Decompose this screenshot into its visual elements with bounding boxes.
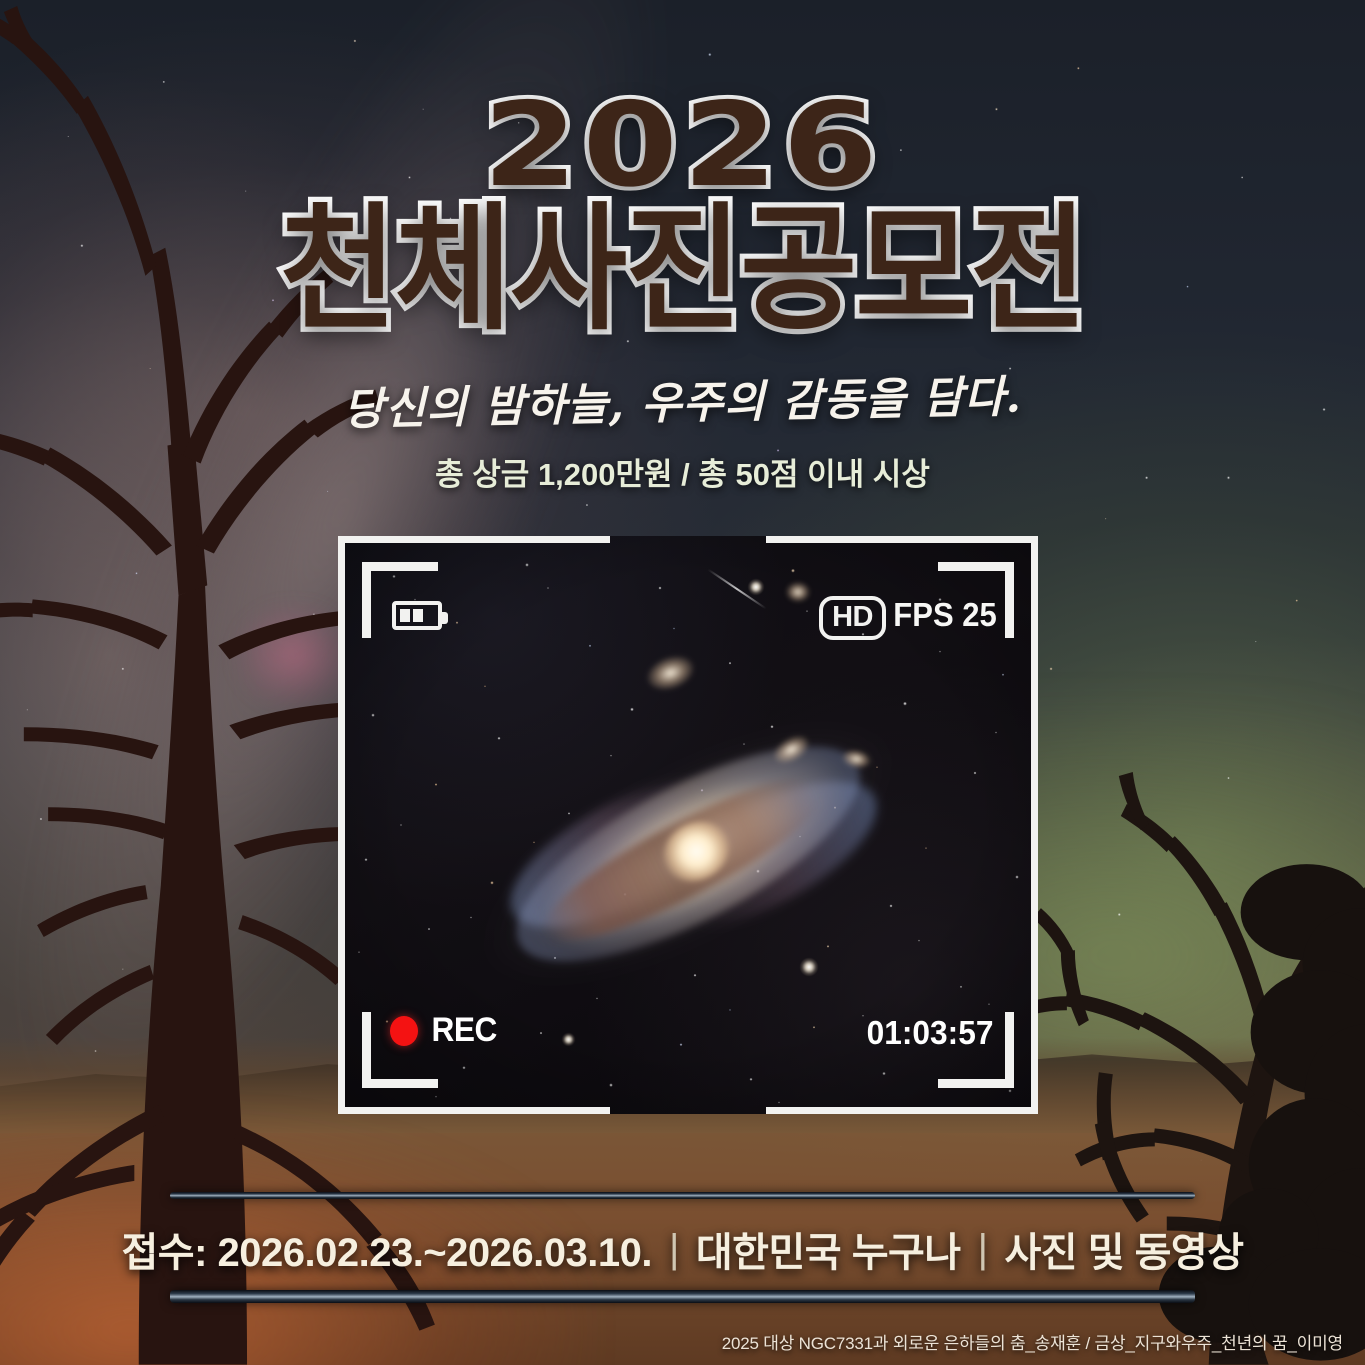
photo-credit-line: 2025 대상 NGC7331과 외로운 은하들의 춤_송재훈 / 금상_지구와… bbox=[722, 1329, 1343, 1354]
viewfinder-edge-bottom-left bbox=[338, 1107, 610, 1114]
info-band-top-rule bbox=[170, 1192, 1195, 1199]
hd-badge: HD bbox=[819, 596, 886, 640]
poster-canvas: 2026 천체사진공모전 당신의 밤하늘, 우주의 감동을 담다. 총 상금 1… bbox=[0, 0, 1365, 1365]
record-dot-icon bbox=[390, 1016, 418, 1046]
page-title-year: 2026 bbox=[0, 88, 1365, 204]
battery-cell-1 bbox=[400, 609, 410, 622]
battery-cell-2 bbox=[413, 609, 423, 622]
viewfinder-edge-bottom-right bbox=[766, 1107, 1038, 1114]
camera-viewfinder: HD FPS 25 REC 01:03:57 bbox=[338, 536, 1038, 1114]
info-separator-2: | bbox=[978, 1227, 988, 1272]
title-block: 2026 천체사진공모전 당신의 밤하늘, 우주의 감동을 담다. 총 상금 1… bbox=[0, 88, 1365, 494]
tagline-text: 당신의 밤하늘, 우주의 감동을 담다. bbox=[0, 354, 1365, 444]
info-separator-1: | bbox=[669, 1227, 679, 1272]
battery-icon bbox=[392, 601, 442, 630]
info-band: 접수: 2026.02.23.~2026.03.10. | 대한민국 누구나 |… bbox=[0, 1192, 1365, 1312]
prize-summary-text: 총 상금 1,200만원 / 총 50점 이내 시상 bbox=[0, 449, 1365, 494]
viewfinder-edge-right bbox=[1031, 536, 1038, 1114]
viewfinder-edge-left bbox=[338, 536, 345, 1114]
info-band-text: 접수: 2026.02.23.~2026.03.10. | 대한민국 누구나 |… bbox=[0, 1220, 1365, 1278]
viewfinder-edge-top-left bbox=[338, 536, 610, 543]
timecode-display: 01:03:57 bbox=[867, 1014, 994, 1052]
eligibility-text: 대한민국 누구나 bbox=[696, 1220, 961, 1278]
submission-period: 접수: 2026.02.23.~2026.03.10. bbox=[121, 1220, 652, 1278]
rec-label: REC bbox=[431, 1011, 496, 1050]
page-title-main: 천체사진공모전 bbox=[0, 198, 1365, 340]
viewfinder-edge-top-right bbox=[766, 536, 1038, 543]
rec-indicator-group: REC bbox=[390, 1011, 499, 1050]
info-band-bottom-rule bbox=[170, 1290, 1195, 1303]
categories-text: 사진 및 동영상 bbox=[1004, 1220, 1243, 1278]
fps-label: FPS 25 bbox=[893, 596, 996, 634]
